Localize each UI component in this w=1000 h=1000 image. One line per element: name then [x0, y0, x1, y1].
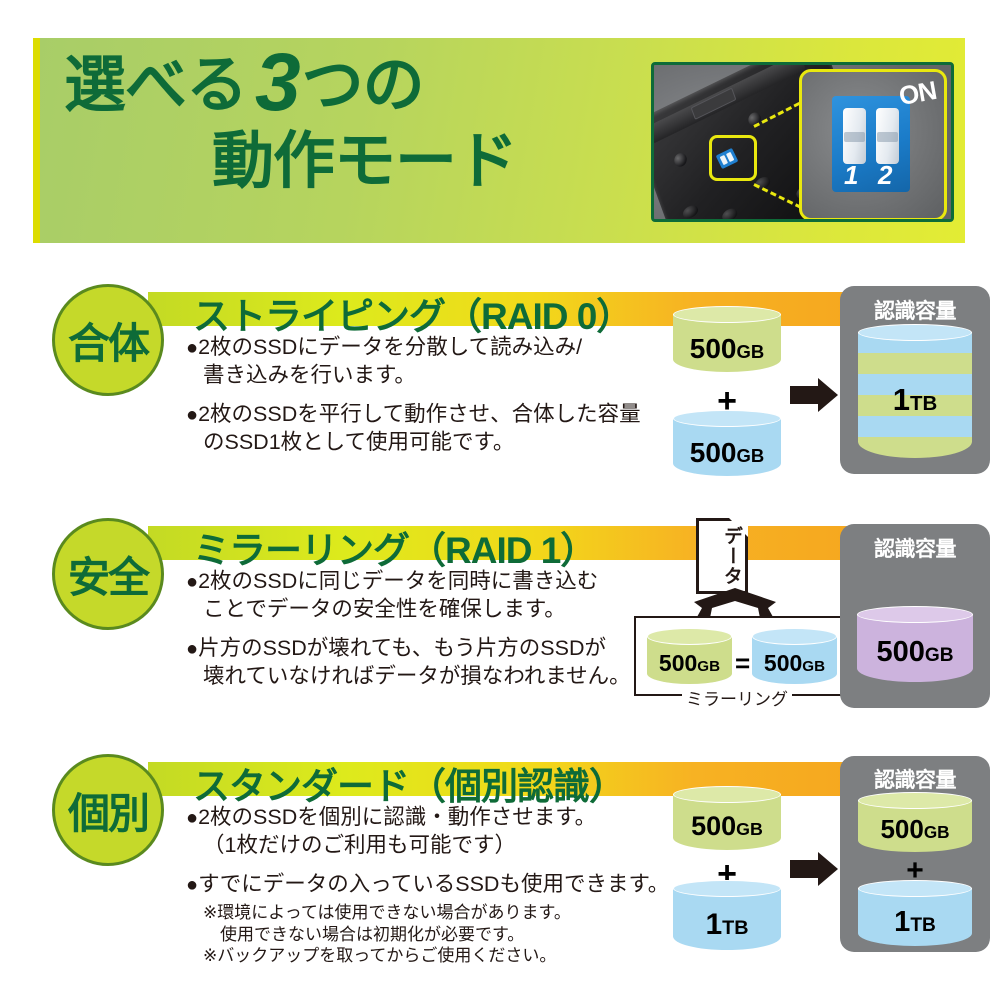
recognized-capacity-panel: 認識容量 500GB + 1TB	[840, 756, 990, 952]
bullet-dot-icon: ●	[186, 571, 198, 593]
bullet-line-1: 2枚のSSDを平行して動作させ、合体した容量	[198, 402, 641, 426]
bullet-item: ●2枚のSSDにデータを分散して読み込み/ 書き込みを行います。	[186, 334, 686, 390]
badge-label: 合体	[68, 310, 148, 371]
mirror-disk-2-label: 500GB	[752, 650, 837, 677]
data-document-icon: データ	[696, 518, 748, 594]
bullet-dot-icon: ●	[186, 404, 198, 426]
section-notes: ※環境によっては使用できない場合があります。 使用できない場合は初期化が必要です…	[186, 902, 686, 967]
section-body: ●2枚のSSDに同じデータを同時に書き込む ことでデータの安全性を確保します。 …	[186, 568, 686, 702]
enclosure-screw	[672, 151, 688, 169]
mode-badge-combine: 合体	[52, 284, 164, 396]
panel-title: 認識容量	[840, 533, 990, 563]
note-line: ※環境によっては使用できない場合があります。	[203, 902, 686, 924]
dip-switch-lever-2	[876, 108, 899, 164]
bullet-line-1: 2枚のSSDを個別に認識・動作させます。	[198, 805, 596, 829]
bullet-item: ●2枚のSSDを個別に認識・動作させます。 （1枚だけのご利用も可能です）	[186, 804, 686, 860]
enclosure-foot	[681, 203, 699, 220]
mode-badge-safety: 安全	[52, 518, 164, 630]
output-disk-1: 500GB	[858, 792, 972, 858]
output-disk-label: 1TB	[858, 382, 972, 418]
recognized-capacity-panel: 認識容量 500GB	[840, 524, 990, 708]
input-disk-2: 1TB	[673, 880, 781, 956]
mode-section-raid0: 合体 ストライピング（RAID 0） ●2枚のSSDにデータを分散して読み込み/…	[0, 278, 1000, 493]
mirroring-label: ミラーリング	[682, 685, 792, 710]
bullet-line-1: 片方のSSDが壊れても、もう片方のSSDが	[198, 636, 606, 660]
input-disk-1-label: 500GB	[673, 811, 781, 842]
cylinder-top	[858, 880, 972, 897]
mirror-disk-2: 500GB	[752, 628, 837, 690]
dip-switch-number-1: 1	[844, 160, 858, 191]
input-disk-2-label: 1TB	[673, 908, 781, 942]
equals-operator: =	[735, 648, 750, 679]
cylinder-top	[673, 410, 781, 427]
bullet-line-2: ことでデータの安全性を確保します。	[186, 596, 686, 624]
input-disk-1: 500GB	[673, 306, 781, 380]
panel-title: 認識容量	[840, 295, 990, 325]
diagram-raid0: 500GB + 500GB 認識容量 1TB	[650, 278, 1000, 478]
dip-switch-lever-1	[843, 108, 866, 164]
bullet-item: ●片方のSSDが壊れても、もう片方のSSDが 壊れていなければデータが損なわれま…	[186, 635, 686, 691]
output-disk-label: 500GB	[857, 636, 973, 669]
badge-label: 安全	[68, 544, 148, 605]
recognized-capacity-panel: 認識容量 1TB	[840, 286, 990, 474]
note-line: ※バックアップを取ってからご使用ください。	[203, 945, 686, 967]
page-title: 選べる3つの 動作モード	[62, 50, 662, 230]
section-heading: ストライピング（RAID 0）	[193, 286, 632, 340]
bullet-dot-icon: ●	[186, 337, 198, 359]
cylinder-top	[858, 324, 972, 341]
bullet-line-2: （1枚だけのご利用も可能です）	[186, 832, 686, 860]
document-label: データ	[699, 526, 745, 586]
bullet-line-2: 書き込みを行います。	[186, 362, 686, 390]
mirror-disk-1-label: 500GB	[647, 650, 732, 677]
output-disk-1-label: 500GB	[858, 814, 972, 845]
mode-section-raid1: 安全 ミラーリング（RAID 1） ●2枚のSSDに同じデータを同時に書き込む …	[0, 512, 1000, 727]
output-disk: 500GB	[857, 606, 973, 690]
product-photo: ON 1 2	[651, 62, 954, 222]
bullet-dot-icon: ●	[186, 638, 198, 660]
cylinder-top	[752, 628, 837, 645]
section-body: ●2枚のSSDを個別に認識・動作させます。 （1枚だけのご利用も可能です） ●す…	[186, 804, 686, 967]
title-text-pre: 選べる	[64, 51, 247, 120]
title-line-2: 動作モード	[62, 131, 662, 193]
mode-section-standard: 個別 スタンダード（個別認識） ●2枚のSSDを個別に認識・動作させます。 （1…	[0, 748, 1000, 970]
dip-on-label: ON	[897, 75, 939, 112]
bullet-line-1: 2枚のSSDにデータを分散して読み込み/	[198, 335, 582, 359]
bullet-dot-icon: ●	[186, 874, 198, 896]
title-number: 3	[247, 37, 302, 128]
header-accent-stripe	[33, 38, 40, 243]
cylinder-top	[673, 786, 781, 803]
bullet-item: ●すでにデータの入っているSSDも使用できます。	[186, 871, 686, 899]
mirroring-group-box: 500GB = 500GB	[634, 616, 846, 696]
section-heading: スタンダード（個別認識）	[193, 756, 625, 810]
badge-label: 個別	[68, 780, 148, 841]
cylinder-top	[673, 880, 781, 897]
panel-title: 認識容量	[840, 764, 990, 794]
mode-badge-individual: 個別	[52, 754, 164, 866]
bullet-line-1: 2枚のSSDに同じデータを同時に書き込む	[198, 569, 598, 593]
bullet-line-2: 壊れていなければデータが損なわれません。	[186, 663, 686, 691]
title-text-post: つの	[302, 51, 424, 120]
infographic-page: 選べる3つの 動作モード ON 1 2	[0, 0, 1000, 1000]
input-disk-2: 500GB	[673, 410, 781, 484]
section-body: ●2枚のSSDにデータを分散して読み込み/ 書き込みを行います。 ●2枚のSSD…	[186, 334, 686, 468]
output-disk-striped: 1TB	[858, 324, 972, 464]
cylinder-top	[857, 606, 973, 623]
output-disk-2-label: 1TB	[858, 906, 972, 939]
bullet-line-2: のSSD1枚として使用可能です。	[186, 429, 686, 457]
section-heading: ミラーリング（RAID 1）	[193, 520, 596, 574]
callout-highlight-box	[709, 135, 757, 181]
bullet-line-1: すでにデータの入っているSSDも使用できます。	[198, 872, 669, 896]
bullet-item: ●2枚のSSDを平行して動作させ、合体した容量 のSSD1枚として使用可能です。	[186, 401, 686, 457]
cylinder-top	[647, 628, 732, 645]
input-disk-1: 500GB	[673, 786, 781, 856]
mirror-disk-1: 500GB	[647, 628, 732, 690]
enclosure-foot	[721, 206, 739, 222]
dip-switch-zoom-panel: ON 1 2	[799, 69, 947, 221]
input-disk-2-label: 500GB	[673, 437, 781, 469]
note-line: 使用できない場合は初期化が必要です。	[203, 924, 686, 946]
diagram-standard: 500GB + 1TB 認識容量 500GB +	[650, 748, 1000, 958]
dip-switch-number-2: 2	[878, 160, 892, 191]
input-disk-1-label: 500GB	[673, 333, 781, 365]
cylinder-top	[858, 792, 972, 809]
cylinder-top	[673, 306, 781, 323]
output-disk-2: 1TB	[858, 880, 972, 952]
diagram-raid1: データ 500GB = 500GB ミラーリング	[620, 512, 1000, 712]
bullet-item: ●2枚のSSDに同じデータを同時に書き込む ことでデータの安全性を確保します。	[186, 568, 686, 624]
bullet-dot-icon: ●	[186, 807, 198, 829]
